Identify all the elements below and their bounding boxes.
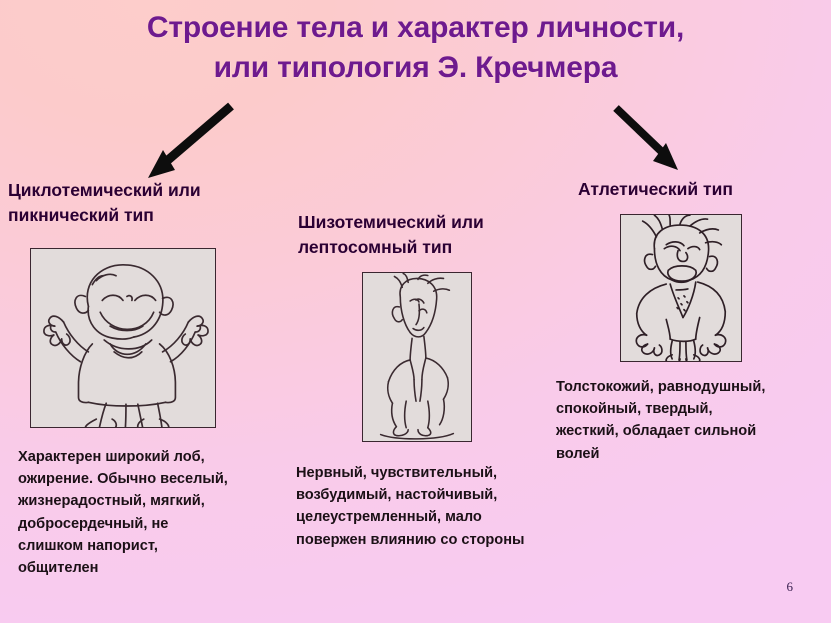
description-schizothymic-line-4: повержен влиянию со стороны	[296, 529, 596, 551]
heading-schizothymic: Шизотемический или лептосомный тип	[298, 210, 588, 260]
description-athletic-line-3: жесткий, обладает сильной	[556, 420, 826, 442]
heading-schizothymic-line-2: лептосомный тип	[298, 235, 588, 260]
description-athletic-line-1: Толстокожий, равнодушный,	[556, 376, 826, 398]
description-cyclothymic: Характерен широкий лоб, ожирение. Обычно…	[18, 446, 298, 579]
description-cyclothymic-line-5: слишком напорист,	[18, 535, 298, 557]
description-athletic-line-2: спокойный, твердый,	[556, 398, 826, 420]
title-line-1: Строение тела и характер личности,	[0, 8, 831, 48]
page-number: 6	[787, 579, 794, 595]
heading-cyclothymic-line-1: Циклотемический или	[8, 178, 298, 203]
heading-cyclothymic-line-2: пикнический тип	[8, 203, 298, 228]
description-cyclothymic-line-4: добросердечный, не	[18, 513, 298, 535]
title-line-2: или типология Э. Кречмера	[0, 48, 831, 88]
diagonal-down-left-arrow	[128, 102, 238, 182]
description-schizothymic-line-3: целеустремленный, мало	[296, 506, 596, 528]
page-title: Строение тела и характер личности, или т…	[0, 8, 831, 87]
description-cyclothymic-line-6: общителен	[18, 557, 298, 579]
heading-athletic: Атлетический тип	[578, 177, 828, 202]
description-schizothymic: Нервный, чувствительный, возбудимый, нас…	[296, 462, 596, 551]
diagonal-down-right-arrow	[610, 104, 710, 176]
heading-schizothymic-line-1: Шизотемический или	[298, 210, 588, 235]
illustration-leptosome-tall-thin-figure	[362, 272, 472, 442]
illustration-athletic-stocky-muscular-figure	[620, 214, 742, 362]
description-athletic: Толстокожий, равнодушный, спокойный, тве…	[556, 376, 826, 465]
description-schizothymic-line-1: Нервный, чувствительный,	[296, 462, 596, 484]
heading-cyclothymic: Циклотемический или пикнический тип	[8, 178, 298, 228]
heading-athletic-line-1: Атлетический тип	[578, 177, 828, 202]
description-cyclothymic-line-3: жизнерадостный, мягкий,	[18, 490, 298, 512]
slide-canvas: Строение тела и характер личности, или т…	[0, 0, 831, 623]
description-athletic-line-4: волей	[556, 443, 826, 465]
illustration-pyknic-round-smiling-figure	[30, 248, 216, 428]
description-schizothymic-line-2: возбудимый, настойчивый,	[296, 484, 596, 506]
description-cyclothymic-line-1: Характерен широкий лоб,	[18, 446, 298, 468]
description-cyclothymic-line-2: ожирение. Обычно веселый,	[18, 468, 298, 490]
